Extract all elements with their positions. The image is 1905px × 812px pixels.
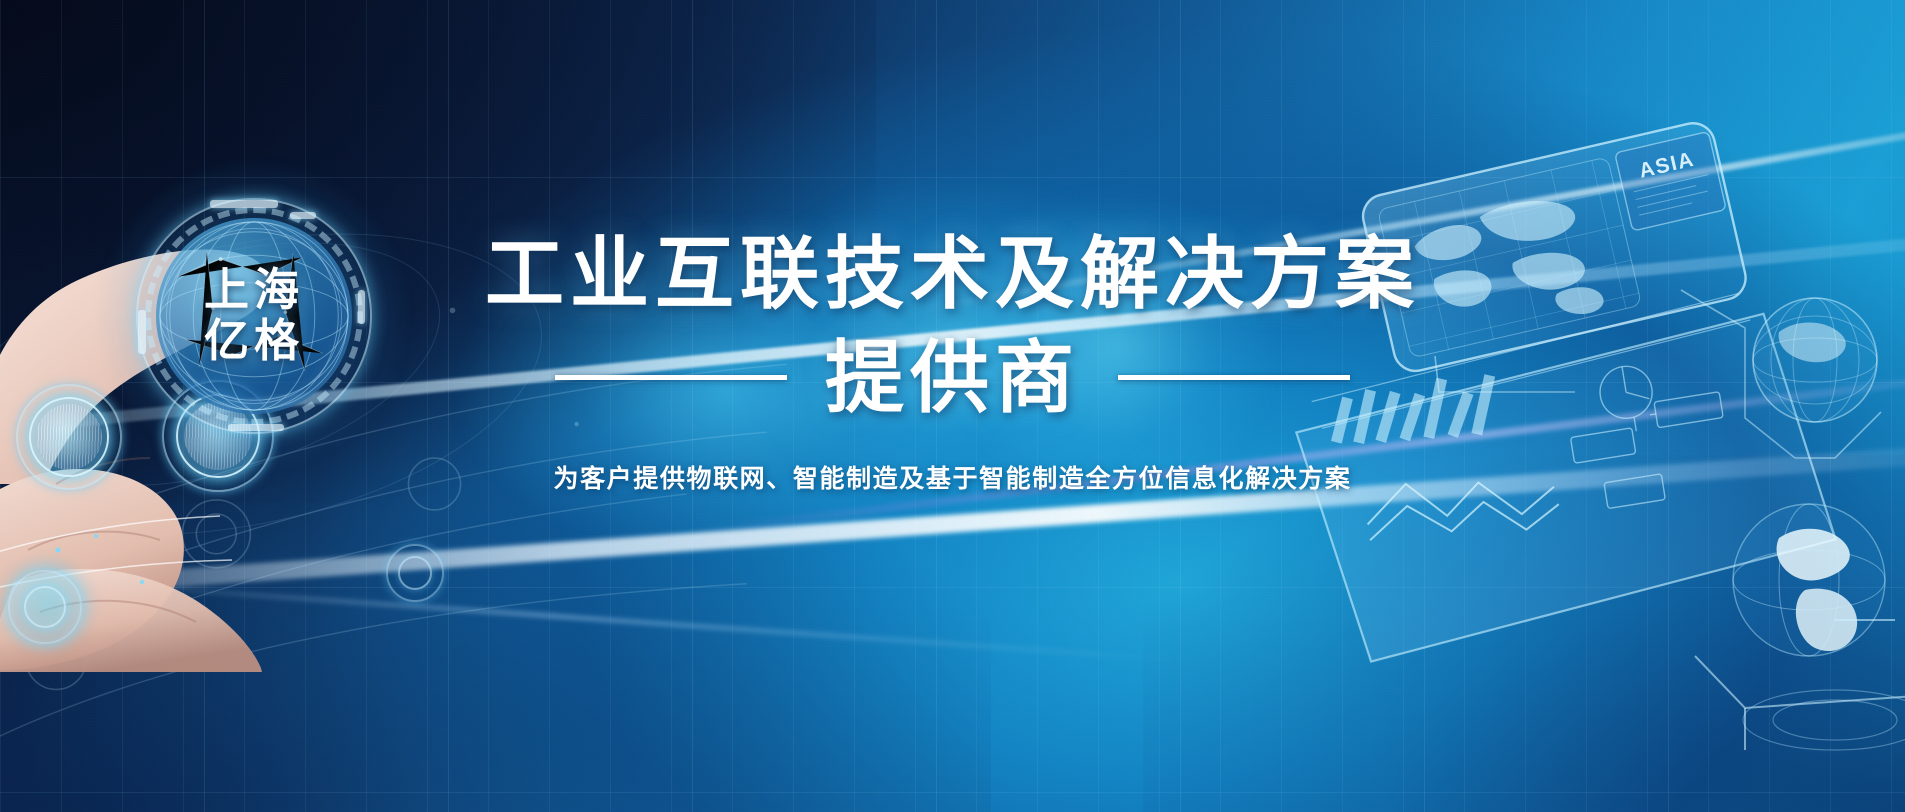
- tagline: 为客户提供物联网、智能制造及基于智能制造全方位信息化解决方案: [0, 459, 1905, 495]
- page-title: 工业互联技术及解决方案: [0, 232, 1905, 316]
- hero-copy: 工业互联技术及解决方案 提供商 为客户提供物联网、智能制造及基于智能制造全方位信…: [0, 232, 1905, 495]
- divider-rule-right: [1118, 375, 1350, 380]
- divider-rule-left: [555, 375, 787, 380]
- hero-banner: 上海 亿格: [0, 0, 1905, 812]
- subtitle-row: 提供商: [0, 338, 1905, 417]
- page-subtitle: 提供商: [825, 338, 1080, 417]
